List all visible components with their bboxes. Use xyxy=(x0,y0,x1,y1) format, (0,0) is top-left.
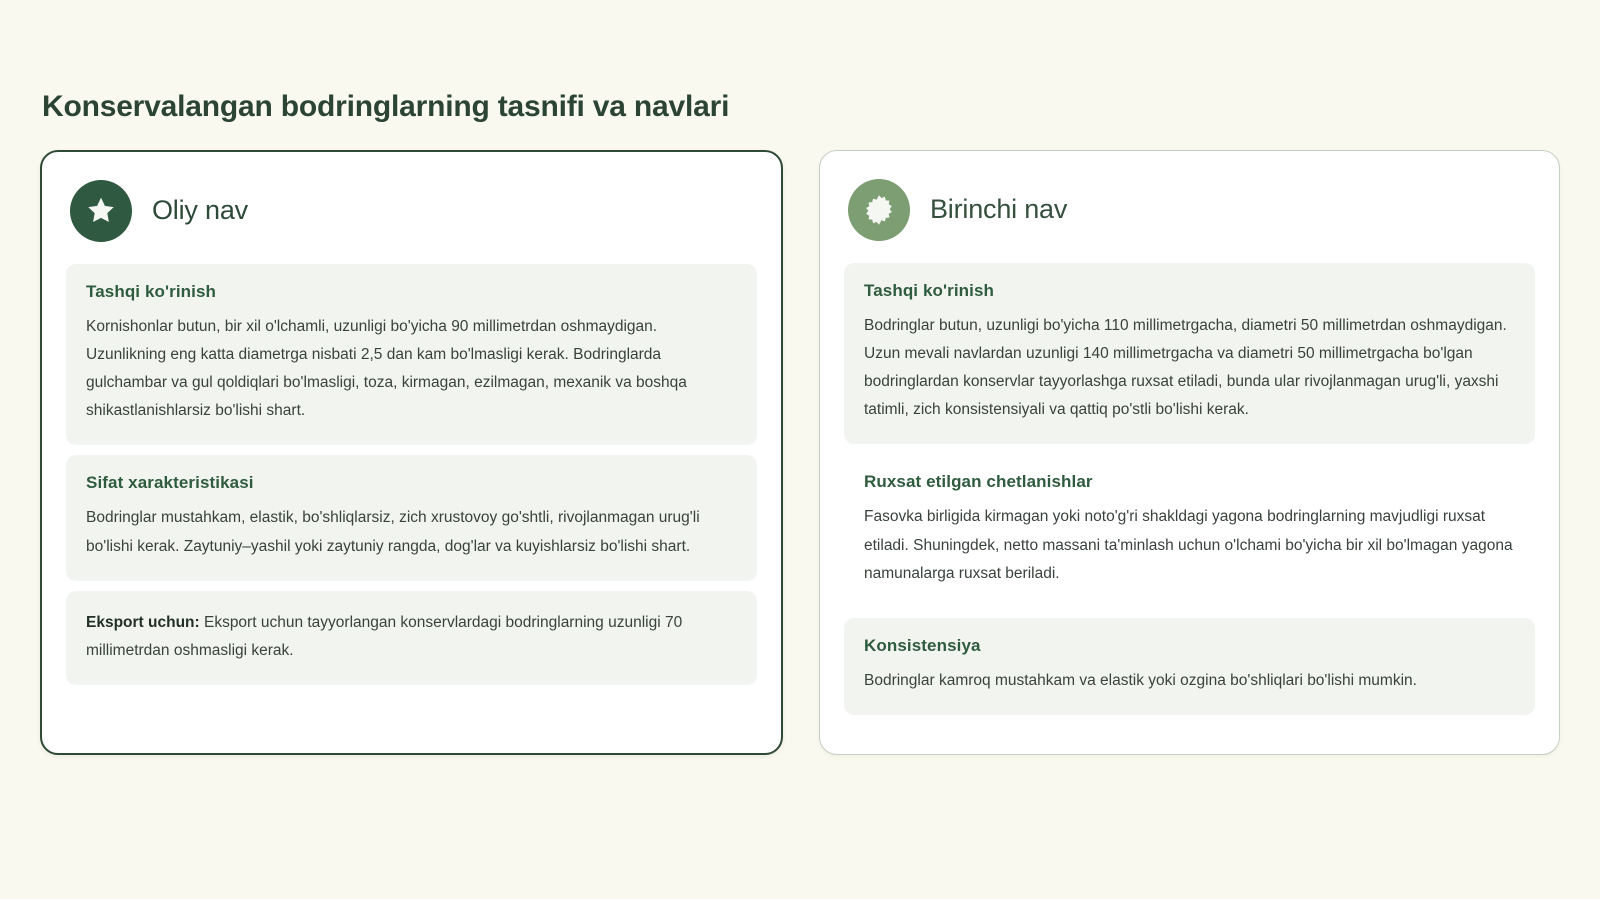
card-birinchi-nav[interactable]: Birinchi nav Tashqi ko'rinish Bodringlar… xyxy=(819,150,1560,755)
section-body: Kornishonlar butun, bir xil o'lchamli, u… xyxy=(86,313,737,426)
section-sifat-xarakteristikasi: Sifat xarakteristikasi Bodringlar mustah… xyxy=(66,455,757,580)
section-body: Bodringlar mustahkam, elastik, bo'shliql… xyxy=(86,504,737,560)
section-tashqi-korinish-2: Tashqi ko'rinish Bodringlar butun, uzunl… xyxy=(844,263,1535,445)
card-grid: Oliy nav Tashqi ko'rinish Kornishonlar b… xyxy=(40,150,1560,755)
section-lead: Eksport uchun: xyxy=(86,614,200,631)
section-body: Bodringlar butun, uzunligi bo'yicha 110 … xyxy=(864,312,1515,425)
section-body: Eksport uchun: Eksport uchun tayyorlanga… xyxy=(86,609,737,665)
section-list-birinchi-nav: Tashqi ko'rinish Bodringlar butun, uzunl… xyxy=(844,263,1535,716)
section-body: Fasovka birligida kirmagan yoki noto'g'r… xyxy=(864,503,1515,588)
section-heading: Tashqi ko'rinish xyxy=(86,282,737,302)
star-icon xyxy=(84,194,118,228)
card-title-birinchi-nav: Birinchi nav xyxy=(930,194,1067,225)
section-tashqi-korinish: Tashqi ko'rinish Kornishonlar butun, bir… xyxy=(66,264,757,446)
section-list-oliy-nav: Tashqi ko'rinish Kornishonlar butun, bir… xyxy=(66,264,757,686)
section-body: Bodringlar kamroq mustahkam va elastik y… xyxy=(864,667,1515,695)
rosette-icon xyxy=(862,193,896,227)
card-title-oliy-nav: Oliy nav xyxy=(152,195,248,226)
page-title: Konservalangan bodringlarning tasnifi va… xyxy=(42,88,1560,126)
card-header-birinchi-nav: Birinchi nav xyxy=(844,177,1535,263)
section-heading: Konsistensiya xyxy=(864,636,1515,656)
section-eksport-uchun: Eksport uchun: Eksport uchun tayyorlanga… xyxy=(66,591,757,685)
section-heading: Tashqi ko'rinish xyxy=(864,281,1515,301)
rosette-badge xyxy=(848,179,910,241)
section-ruxsat-etilgan-chetlanishlar: Ruxsat etilgan chetlanishlar Fasovka bir… xyxy=(844,454,1535,608)
card-oliy-nav[interactable]: Oliy nav Tashqi ko'rinish Kornishonlar b… xyxy=(40,150,783,755)
card-header-oliy-nav: Oliy nav xyxy=(66,178,757,264)
star-badge xyxy=(70,180,132,242)
page-root: Konservalangan bodringlarning tasnifi va… xyxy=(0,0,1600,899)
section-konsistensiya: Konsistensiya Bodringlar kamroq mustahka… xyxy=(844,618,1535,715)
section-heading: Sifat xarakteristikasi xyxy=(86,473,737,493)
section-heading: Ruxsat etilgan chetlanishlar xyxy=(864,472,1515,492)
